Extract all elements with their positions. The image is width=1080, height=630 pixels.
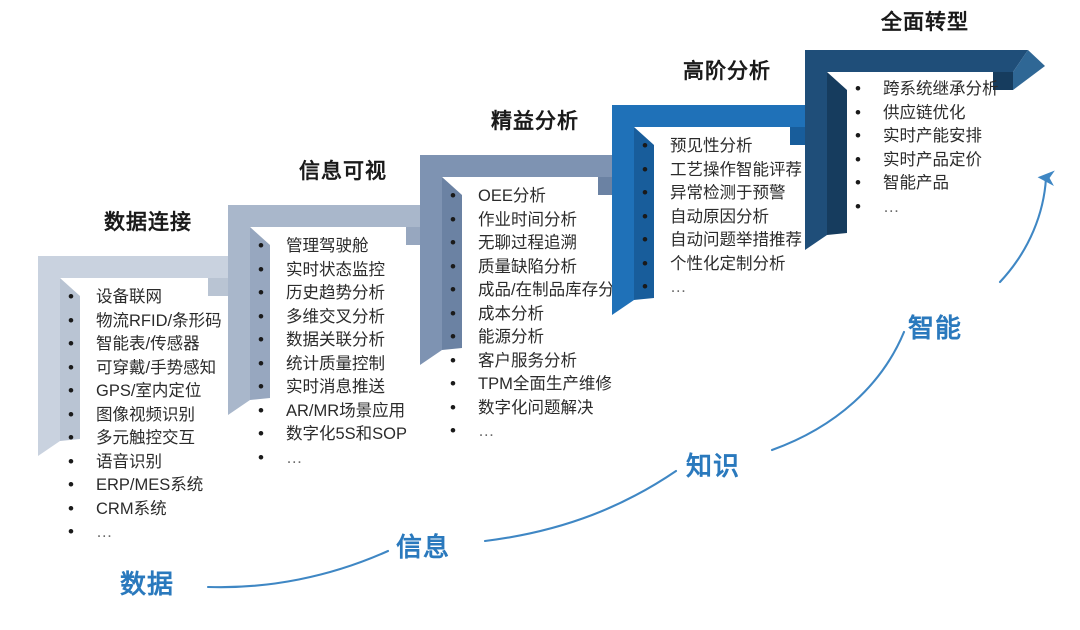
list-item: 成品/在制品库存分析 <box>448 279 638 303</box>
step-items-full-transformation: 跨系统继承分析 供应链优化 实时产能安排 实时产品定价 智能产品 … <box>853 78 1043 219</box>
step-full-transformation[interactable]: 全面转型 跨系统继承分析 供应链优化 实时产能安排 实时产品定价 智能产品 … <box>805 6 1045 266</box>
list-item: 成本分析 <box>448 303 638 327</box>
list-item: 跨系统继承分析 <box>853 78 1043 102</box>
list-item: 实时产品定价 <box>853 149 1043 173</box>
list-item: … <box>640 276 840 300</box>
list-item: 数字化问题解决 <box>448 397 638 421</box>
list-item: … <box>448 420 638 444</box>
list-item: 供应链优化 <box>853 102 1043 126</box>
list-item: … <box>853 196 1043 220</box>
list-item: OEE分析 <box>448 185 638 209</box>
step-items-lean-analysis: OEE分析 作业时间分析 无聊过程追溯 质量缺陷分析 成品/在制品库存分析 成本… <box>448 185 638 444</box>
list-item: 客户服务分析 <box>448 350 638 374</box>
curve-label-intelligence: 智能 <box>908 308 962 345</box>
curve-label-information: 信息 <box>396 527 450 564</box>
list-item: 无聊过程追溯 <box>448 232 638 256</box>
step-title-data-connection: 数据连接 <box>38 206 258 236</box>
step-title-full-transformation: 全面转型 <box>805 6 1045 36</box>
maturity-staircase-diagram: 数据连接 设备联网 物流RFID/条形码 智能表/传感器 可穿戴/手势感知 GP… <box>0 0 1080 630</box>
curve-label-knowledge: 知识 <box>686 446 740 483</box>
list-item: TPM全面生产维修 <box>448 373 638 397</box>
list-item: 智能产品 <box>853 172 1043 196</box>
curve-label-data: 数据 <box>120 564 174 601</box>
step-data-connection[interactable]: 数据连接 设备联网 物流RFID/条形码 智能表/传感器 可穿戴/手势感知 GP… <box>38 206 258 566</box>
list-item: 作业时间分析 <box>448 209 638 233</box>
list-item: 能源分析 <box>448 326 638 350</box>
list-item: 质量缺陷分析 <box>448 256 638 280</box>
list-item: … <box>66 521 266 545</box>
list-item: 实时产能安排 <box>853 125 1043 149</box>
